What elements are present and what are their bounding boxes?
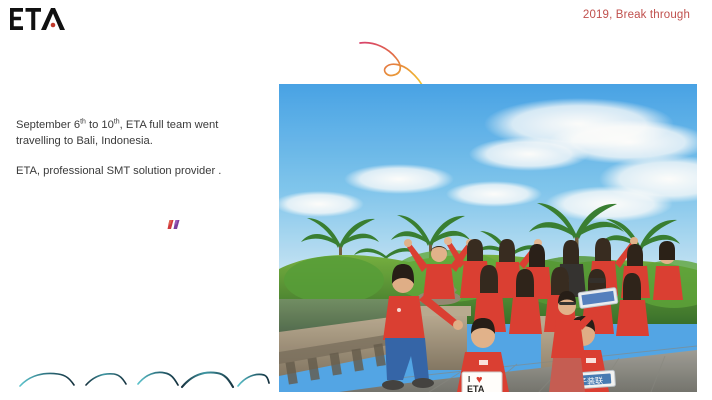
bali-team-photo-illustration: I ♥ ETA 电子装联: [279, 84, 697, 392]
paragraph-tagline: ETA, professional SMT solution provider …: [16, 164, 266, 180]
quote-mark-icon: [166, 219, 184, 235]
paragraph-spacer: [16, 150, 266, 164]
arc-strokes-icon: [18, 366, 270, 392]
quote-mark-decoration: [166, 219, 184, 235]
ribbon-swirl-decoration: [358, 38, 432, 90]
ribbon-swirl-icon: [358, 38, 432, 90]
paragraph-travel: September 6th to 10th, ETA full team wen…: [16, 118, 266, 150]
eta-logo: [10, 8, 68, 30]
paragraph-travel-part2: to 10: [86, 119, 114, 131]
year-tagline: 2019, Break through: [583, 9, 690, 21]
paragraph-travel-part1: September 6: [16, 119, 80, 131]
bali-team-photo: I ♥ ETA 电子装联: [279, 84, 697, 392]
arc-strokes-decoration: [18, 366, 270, 392]
slide-body-text: September 6th to 10th, ETA full team wen…: [16, 118, 266, 180]
eta-logo-mark: [10, 8, 68, 30]
eta-logo-accent-dot: [51, 23, 56, 28]
